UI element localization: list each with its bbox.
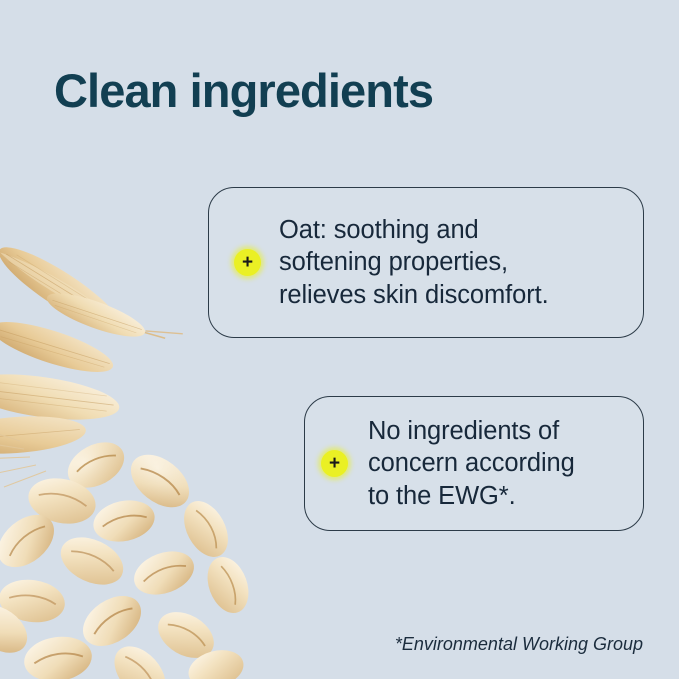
plus-icon: + <box>321 450 348 477</box>
footnote: *Environmental Working Group <box>395 634 643 655</box>
benefit-card-ewg-text: No ingredients of concern according to t… <box>368 415 629 513</box>
benefit-card-ewg: + No ingredients of concern according to… <box>304 396 644 531</box>
benefit-card-oat-text: Oat: soothing and softening properties, … <box>279 214 629 312</box>
product-info-panel: Clean ingredients + Oat: soothing and so… <box>0 0 679 679</box>
benefit-card-oat: + Oat: soothing and softening properties… <box>208 187 644 338</box>
page-title: Clean ingredients <box>54 64 433 118</box>
plus-icon: + <box>234 249 261 276</box>
